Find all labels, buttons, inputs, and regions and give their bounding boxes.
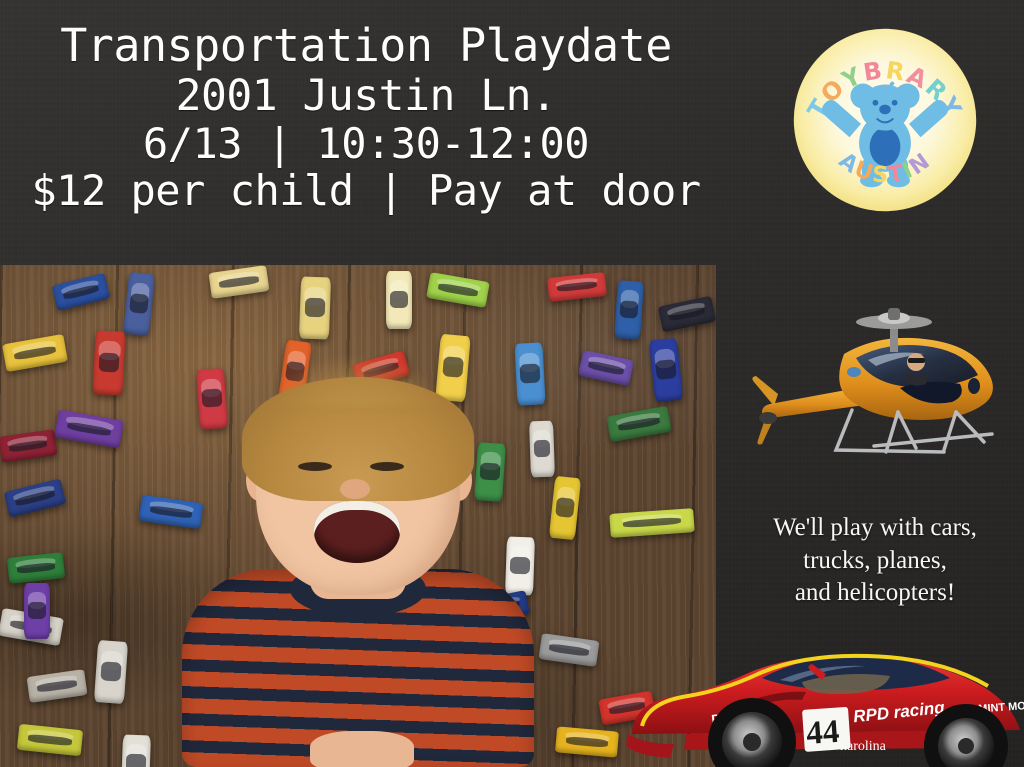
race-number-plate: 44: [802, 707, 851, 752]
promo-line-1: We'll play with cars,: [726, 512, 1024, 545]
headline-line-2: 2001 Justin Ln.: [176, 73, 557, 119]
toy-car: [121, 735, 151, 767]
toy-car: [24, 583, 50, 639]
toy-window: [126, 754, 146, 767]
helicopter-image: [748, 300, 1004, 466]
toy-cars-photo: [0, 265, 716, 767]
toy-car: [614, 280, 644, 340]
eye-right: [370, 462, 404, 471]
headline-line-4: $12 per child | Pay at door: [31, 168, 700, 213]
nose: [340, 479, 370, 499]
toy-window: [620, 300, 639, 319]
promo-line-2: trucks, planes,: [726, 545, 1024, 578]
toy-car: [299, 276, 331, 339]
promo-text: We'll play with cars, trucks, planes, an…: [726, 512, 1024, 610]
race-car-image: PRONET RPD racing karolina FURMINT MONT …: [626, 638, 1024, 767]
toy-window: [305, 298, 326, 317]
toy-window: [655, 359, 676, 379]
child-figure: [182, 381, 534, 767]
race-number: 44: [805, 714, 840, 752]
toy-car: [555, 726, 619, 757]
headline-block: Transportation Playdate 2001 Justin Ln. …: [0, 0, 732, 265]
toy-car: [386, 271, 412, 329]
flyer-canvas: Transportation Playdate 2001 Justin Ln. …: [0, 0, 1024, 767]
toy-window: [100, 661, 122, 681]
eye-left: [298, 462, 332, 471]
hands: [310, 731, 414, 767]
promo-line-3: and helicopters!: [726, 577, 1024, 610]
toy-window: [534, 440, 551, 457]
toy-window: [28, 602, 46, 619]
open-mouth: [314, 501, 400, 563]
headline-line-1: Transportation Playdate: [60, 22, 672, 71]
toy-window: [98, 352, 119, 372]
toy-window: [129, 293, 149, 313]
toy-window: [555, 497, 575, 517]
headline-line-3: 6/13 | 10:30-12:00: [143, 121, 589, 166]
toybrary-austin-logo[interactable]: TOYBRARY: [786, 24, 984, 216]
toy-car: [94, 640, 128, 704]
toy-window: [442, 357, 464, 378]
toy-car: [92, 330, 125, 395]
toy-window: [390, 291, 408, 308]
